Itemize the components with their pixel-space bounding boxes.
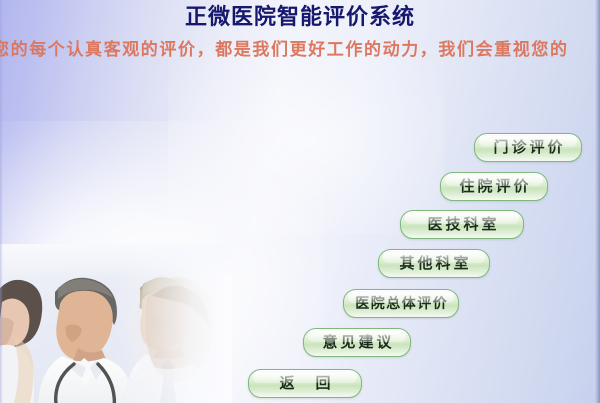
scrolling-notice-text: 您的每个认真客观的评价，都是我们更好工作的动力，我们会重视您的 xyxy=(0,37,569,63)
button-label: 门诊评价 xyxy=(490,140,565,155)
button-medical-technology-department[interactable]: 医技科室 xyxy=(400,210,524,239)
button-label: 医技科室 xyxy=(424,217,499,232)
button-outpatient-evaluation[interactable]: 门诊评价 xyxy=(474,133,582,162)
scrolling-notice: 您的每个认真客观的评价，都是我们更好工作的动力，我们会重视您的 xyxy=(0,37,600,63)
button-label: 住院评价 xyxy=(456,179,531,194)
button-label: 其他科室 xyxy=(396,256,471,271)
button-other-departments[interactable]: 其他科室 xyxy=(378,249,490,278)
page-title: 正微医院智能评价系统 xyxy=(0,4,600,32)
button-back[interactable]: 返 回 xyxy=(248,369,362,398)
button-suggestions[interactable]: 意见建议 xyxy=(303,328,411,357)
button-label: 返 回 xyxy=(276,376,333,391)
button-label: 意见建议 xyxy=(319,335,394,350)
button-inpatient-evaluation[interactable]: 住院评价 xyxy=(440,172,548,201)
evaluation-system-screen: 正微医院智能评价系统 您的每个认真客观的评价，都是我们更好工作的动力，我们会重视… xyxy=(0,0,600,403)
button-label: 医院总体评价 xyxy=(354,297,449,311)
button-overall-hospital-evaluation[interactable]: 医院总体评价 xyxy=(343,289,459,318)
